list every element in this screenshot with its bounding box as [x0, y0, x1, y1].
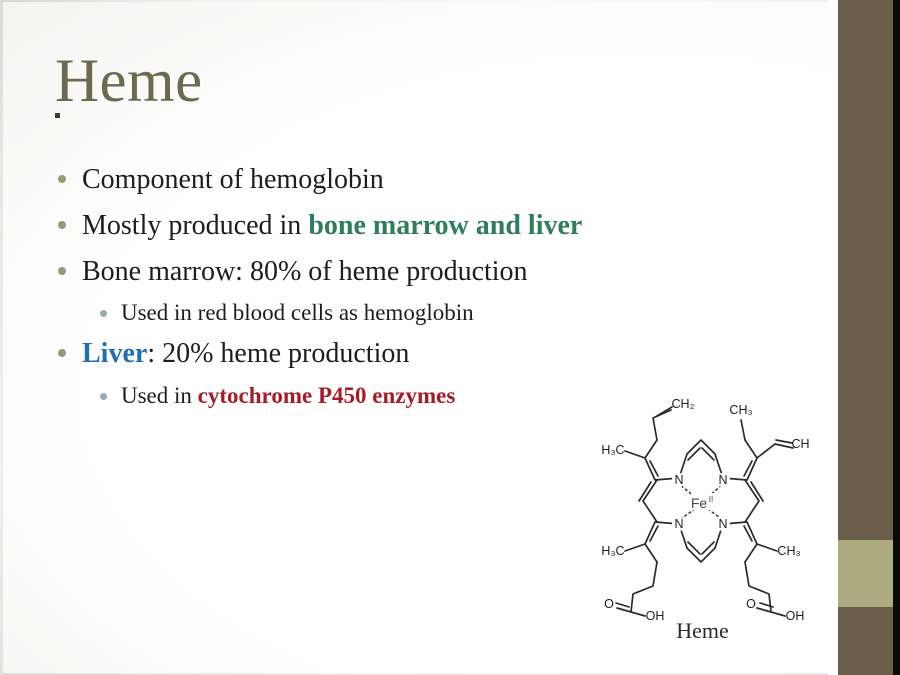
title-underline-dot — [55, 113, 60, 118]
bullet-item-level1: Liver: 20% heme production — [58, 334, 798, 374]
nitrogen-se-label: N — [718, 517, 727, 531]
bullet-text-run: Used in — [121, 383, 198, 408]
iron-oxidation-state-label: II — [709, 495, 713, 504]
bullet-text-run: Component of hemoglobin — [82, 164, 384, 195]
band-white-gutter — [828, 0, 838, 675]
slide-left-edge — [0, 0, 3, 675]
bullet-marker-icon — [100, 310, 107, 317]
bullet-marker-icon — [58, 175, 66, 183]
iron-center-label: Fe — [691, 495, 708, 511]
methyl-top-right-label: CH₃ — [729, 403, 752, 417]
bullet-marker-icon — [100, 393, 107, 400]
figure-caption: Heme — [595, 618, 810, 644]
bullet-text-run: Bone marrow: 80% of heme production — [82, 256, 528, 287]
bullet-text: Used in red blood cells as hemoglobin — [121, 297, 474, 330]
bullet-text: Liver: 20% heme production — [82, 334, 409, 374]
heme-figure: N N N N Fe II CH₂ CH₃ CH₂ H₃C H₃C CH₃ O … — [595, 396, 810, 651]
vinyl-top-right-label: CH₂ — [792, 437, 810, 451]
bullet-item-level1: Component of hemoglobin — [58, 160, 798, 200]
bullet-text: Bone marrow: 80% of heme production — [82, 252, 528, 292]
bullet-text-run: bone marrow and liver — [308, 210, 582, 241]
bullet-text: Used in cytochrome P450 enzymes — [121, 380, 455, 413]
carbonyl-oxygen-left-label: O — [604, 597, 614, 611]
bullet-item-level1: Mostly produced in bone marrow and liver — [58, 206, 798, 246]
bullet-text: Mostly produced in bone marrow and liver — [82, 206, 582, 246]
bullet-text-run: cytochrome P450 enzymes — [198, 383, 456, 408]
methyl-lower-left-label: H₃C — [601, 544, 624, 558]
bullet-marker-icon — [58, 349, 66, 357]
bullet-text-run: : 20% heme production — [147, 338, 409, 369]
heme-structure-diagram: N N N N Fe II CH₂ CH₃ CH₂ H₃C H₃C CH₃ O … — [595, 396, 810, 621]
right-decorative-band — [828, 0, 900, 675]
bullet-text-run: Mostly produced in — [82, 210, 308, 241]
bullet-item-level1: Bone marrow: 80% of heme production — [58, 252, 798, 292]
nitrogen-nw-label: N — [674, 473, 683, 487]
vinyl-top-left-label: CH₂ — [672, 397, 695, 411]
slide-top-edge — [0, 0, 900, 2]
bullet-item-level2: Used in red blood cells as hemoglobin — [58, 297, 798, 330]
band-dark-edge — [893, 0, 900, 675]
bullet-list: Component of hemoglobinMostly produced i… — [58, 160, 798, 416]
slide-title: Heme — [55, 50, 203, 114]
nitrogen-sw-label: N — [674, 517, 683, 531]
methyl-upper-left-label: H₃C — [601, 443, 624, 457]
band-khaki-accent-block — [838, 540, 893, 607]
slide-canvas: Heme Component of hemoglobinMostly produ… — [0, 0, 900, 675]
bullet-text-run: Used in red blood cells as hemoglobin — [121, 300, 474, 325]
carbonyl-oxygen-right-label: O — [746, 597, 756, 611]
bullet-marker-icon — [58, 267, 66, 275]
bullet-text: Component of hemoglobin — [82, 160, 384, 200]
bullet-text-run: Liver — [82, 338, 147, 369]
nitrogen-ne-label: N — [718, 473, 727, 487]
methyl-lower-right-label: CH₃ — [777, 544, 800, 558]
bullet-marker-icon — [58, 221, 66, 229]
